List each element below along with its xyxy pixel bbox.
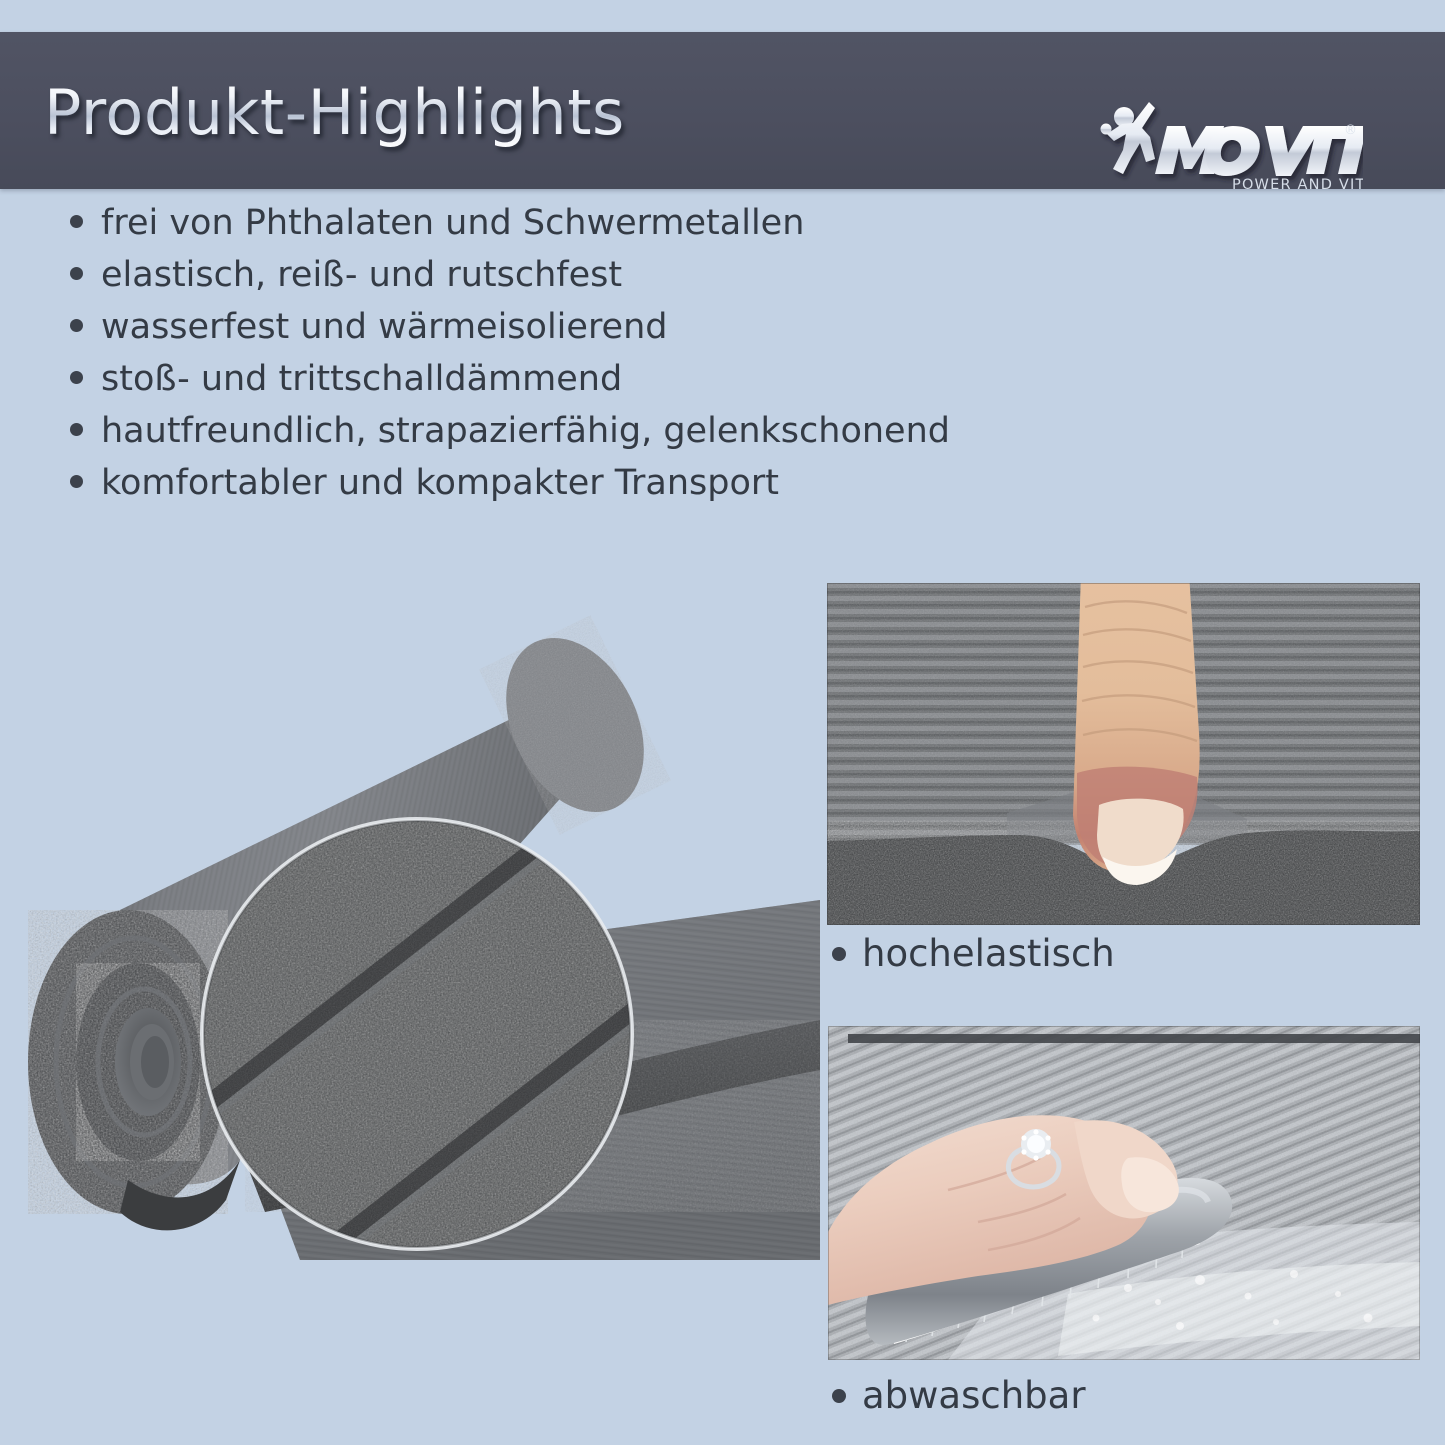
bullet-icon xyxy=(70,215,83,228)
movit-logo: ® POWER AND VITALITY xyxy=(1093,90,1363,194)
photo-frame xyxy=(828,1026,1420,1360)
caption-abwaschbar: abwaschbar xyxy=(832,1377,1086,1414)
feature-label: komfortabler und kompakter Transport xyxy=(101,466,779,501)
feature-item: wasserfest und wärmeisolierend xyxy=(70,310,1070,345)
caption-label: hochelastisch xyxy=(862,935,1115,972)
bullet-icon xyxy=(70,371,83,384)
main-product-photo xyxy=(0,600,820,1260)
caption-hochelastisch: hochelastisch xyxy=(832,935,1115,972)
feature-item: hautfreundlich, strapazierfähig, gelenks… xyxy=(70,414,1070,449)
feature-list: frei von Phthalaten und Schwermetallen e… xyxy=(70,206,1070,518)
feature-item: komfortabler und kompakter Transport xyxy=(70,466,1070,501)
feature-item: frei von Phthalaten und Schwermetallen xyxy=(70,206,1070,241)
bullet-icon xyxy=(70,423,83,436)
feature-label: stoß- und trittschalldämmend xyxy=(101,362,622,397)
caption-label: abwaschbar xyxy=(862,1377,1086,1414)
feature-label: wasserfest und wärmeisolierend xyxy=(101,310,668,345)
feature-label: elastisch, reiß- und rutschfest xyxy=(101,258,622,293)
feature-label: frei von Phthalaten und Schwermetallen xyxy=(101,206,804,241)
feature-item: elastisch, reiß- und rutschfest xyxy=(70,258,1070,293)
feature-label: hautfreundlich, strapazierfähig, gelenks… xyxy=(101,414,950,449)
logo-registered-mark: ® xyxy=(1344,123,1357,138)
header-band: Produkt-Highlights xyxy=(0,32,1445,189)
product-highlights-page: Produkt-Highlights xyxy=(0,0,1445,1445)
page-title: Produkt-Highlights xyxy=(44,76,625,149)
photo-frame xyxy=(827,583,1420,925)
bullet-icon xyxy=(70,475,83,488)
logo-tagline: POWER AND VITALITY xyxy=(1232,177,1363,193)
feature-item: stoß- und trittschalldämmend xyxy=(70,362,1070,397)
bullet-icon xyxy=(70,319,83,332)
bullet-icon xyxy=(832,1389,846,1403)
photo-hochelastisch xyxy=(827,583,1420,925)
bullet-icon xyxy=(832,947,846,961)
bullet-icon xyxy=(70,267,83,280)
photo-abwaschbar xyxy=(828,1026,1420,1360)
